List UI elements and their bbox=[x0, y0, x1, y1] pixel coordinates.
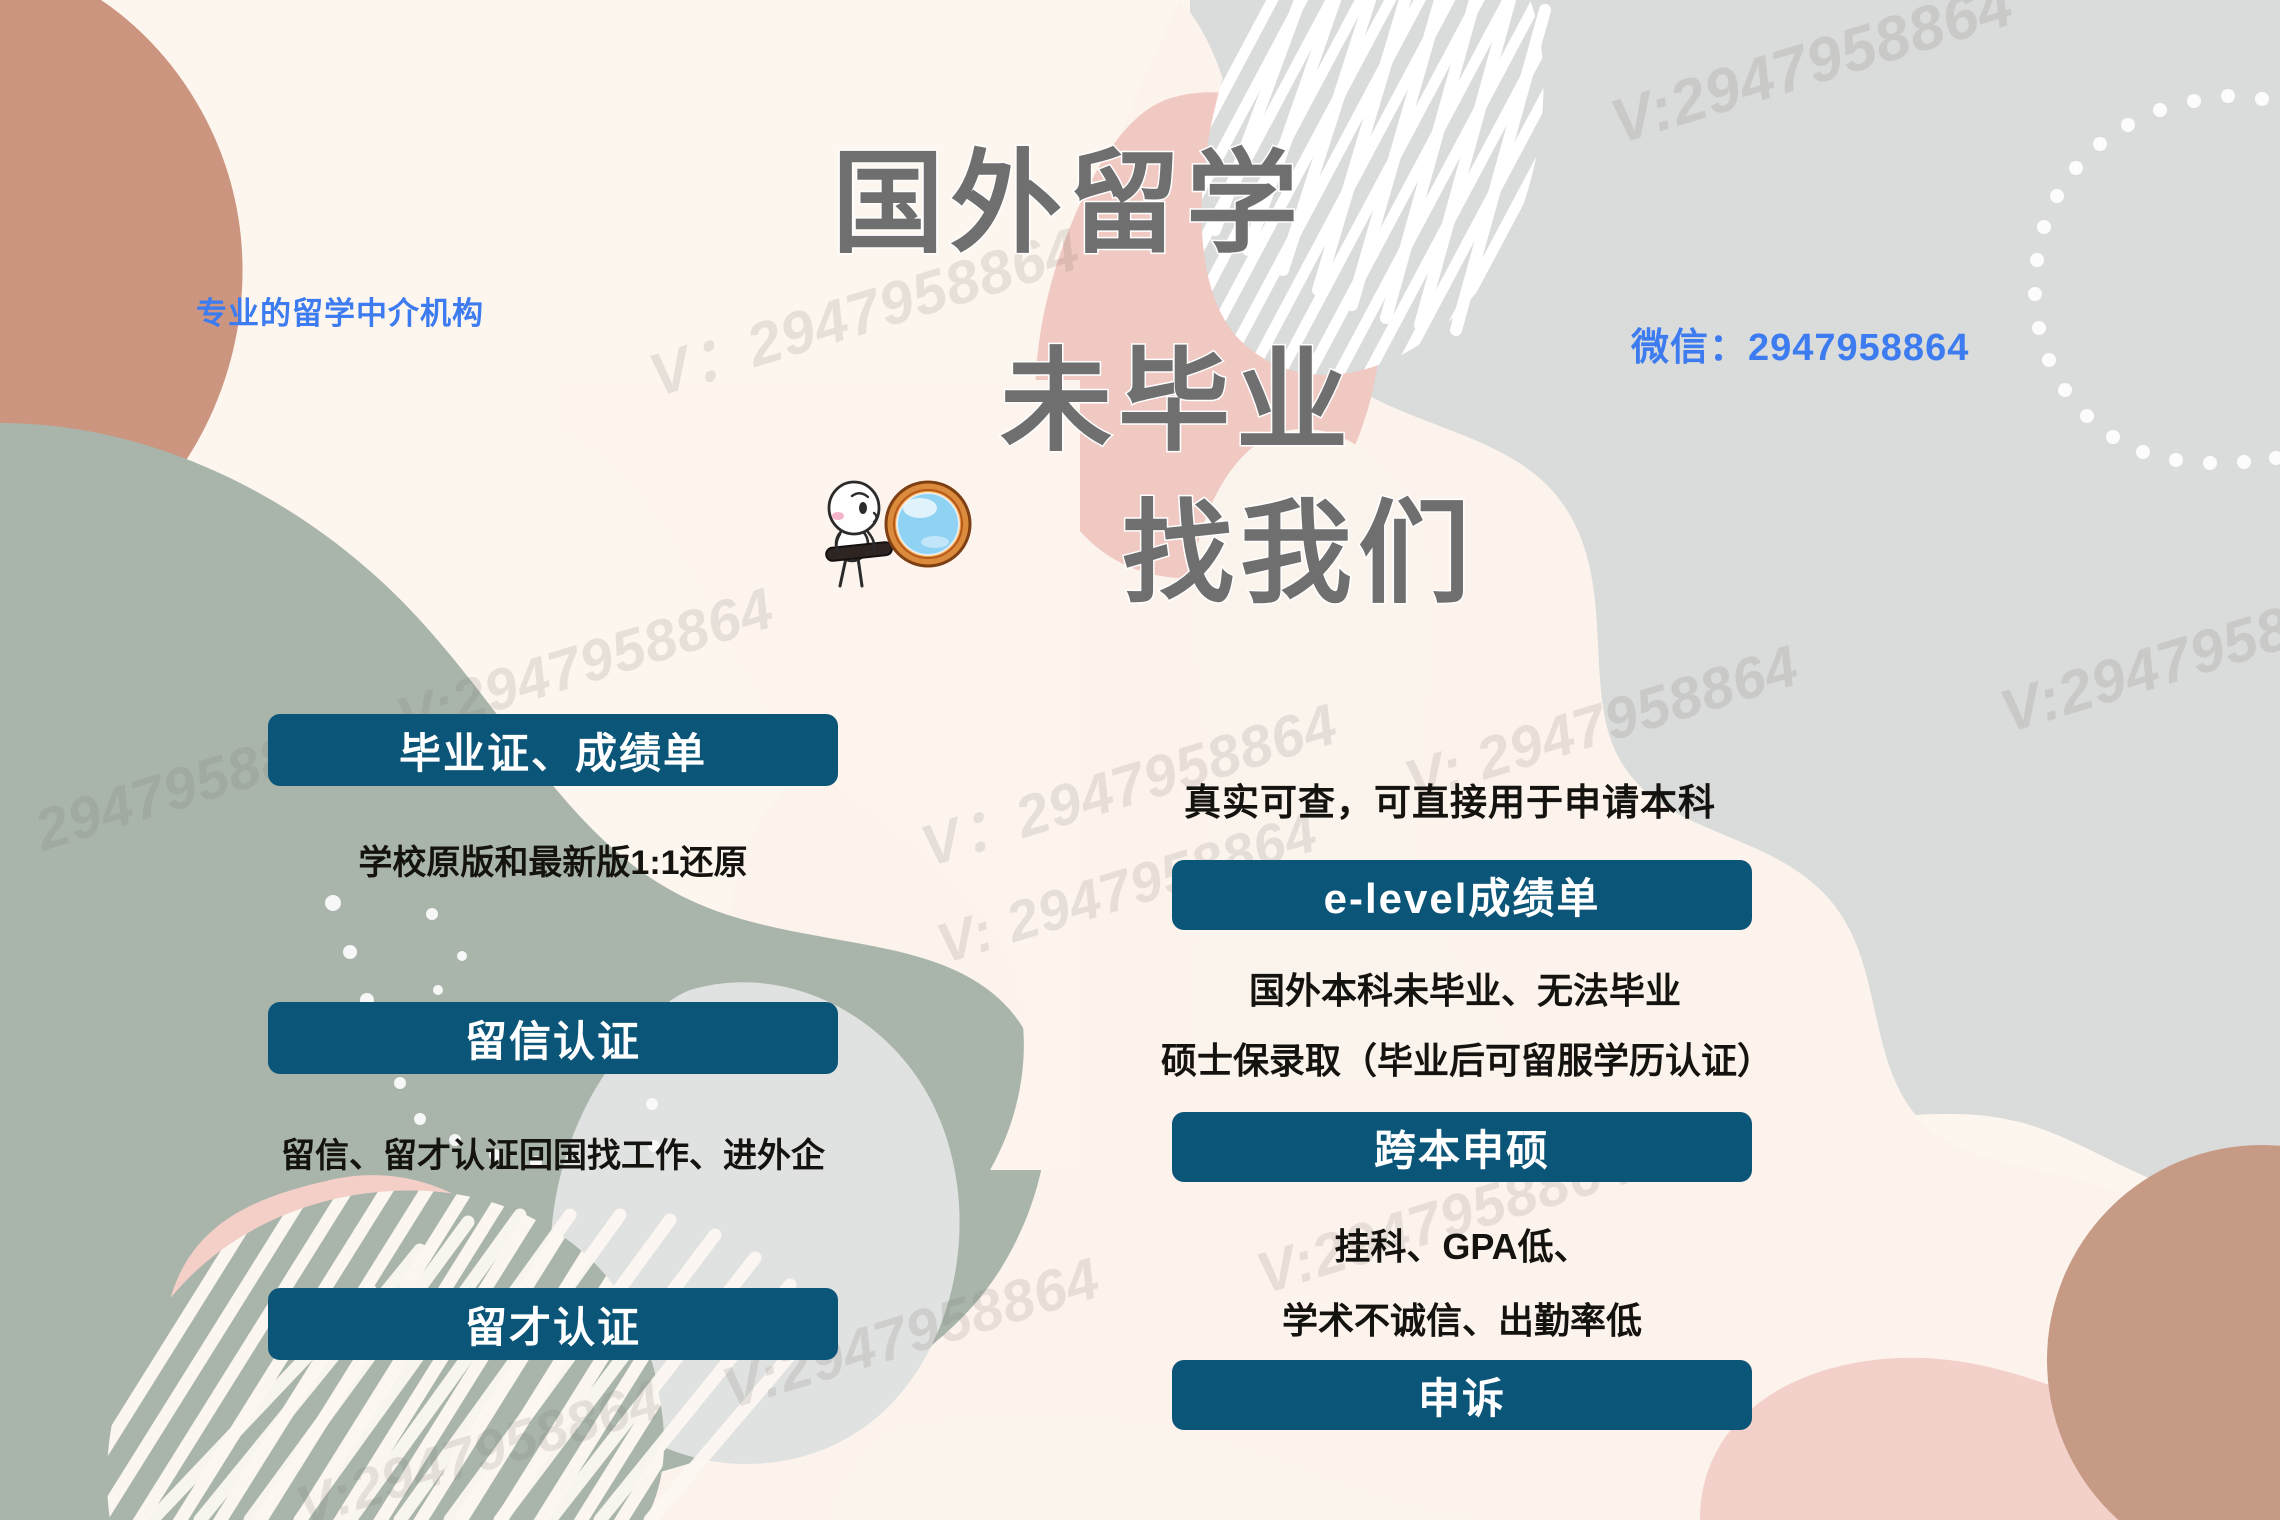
headline-line-1: 国外留学 bbox=[832, 148, 1304, 260]
caption-diploma-transcript: 学校原版和最新版1:1还原 bbox=[268, 835, 838, 884]
caption-liuxin-certification: 留信、留才认证回国找工作、进外企 bbox=[228, 1128, 878, 1177]
caption-verifiable-lead: 真实可查，可直接用于申请本科 bbox=[1120, 772, 1780, 826]
badge-cross-major-master[interactable]: 跨本申硕 bbox=[1172, 1112, 1752, 1182]
headline-line-3: 找我们 bbox=[1122, 498, 1476, 610]
caption-e-level-line-2: 硕士保录取（毕业后可留服学历认证） bbox=[1092, 1032, 1842, 1084]
badge-diploma-transcript[interactable]: 毕业证、成绩单 bbox=[268, 714, 838, 786]
agency-tagline: 专业的留学中介机构 bbox=[196, 288, 484, 333]
caption-cross-major-line-1: 挂科、GPA低、 bbox=[1172, 1218, 1752, 1270]
caption-cross-major-line-2: 学术不诚信、出勤率低 bbox=[1172, 1292, 1752, 1344]
caption-e-level-line-1: 国外本科未毕业、无法毕业 bbox=[1140, 962, 1790, 1014]
badge-appeal[interactable]: 申诉 bbox=[1172, 1360, 1752, 1430]
badge-liuxin-certification[interactable]: 留信认证 bbox=[268, 1002, 838, 1074]
badge-liucai-certification[interactable]: 留才认证 bbox=[268, 1288, 838, 1360]
headline-line-2: 未毕业 bbox=[1000, 346, 1354, 458]
magnifier-icon bbox=[800, 466, 980, 596]
poster-root: V:2947958864V：2947958864V:29479588V:2947… bbox=[0, 0, 2280, 1520]
badge-e-level-transcript[interactable]: e-level成绩单 bbox=[1172, 860, 1752, 930]
wechat-contact[interactable]: 微信：2947958864 bbox=[1631, 316, 1969, 371]
